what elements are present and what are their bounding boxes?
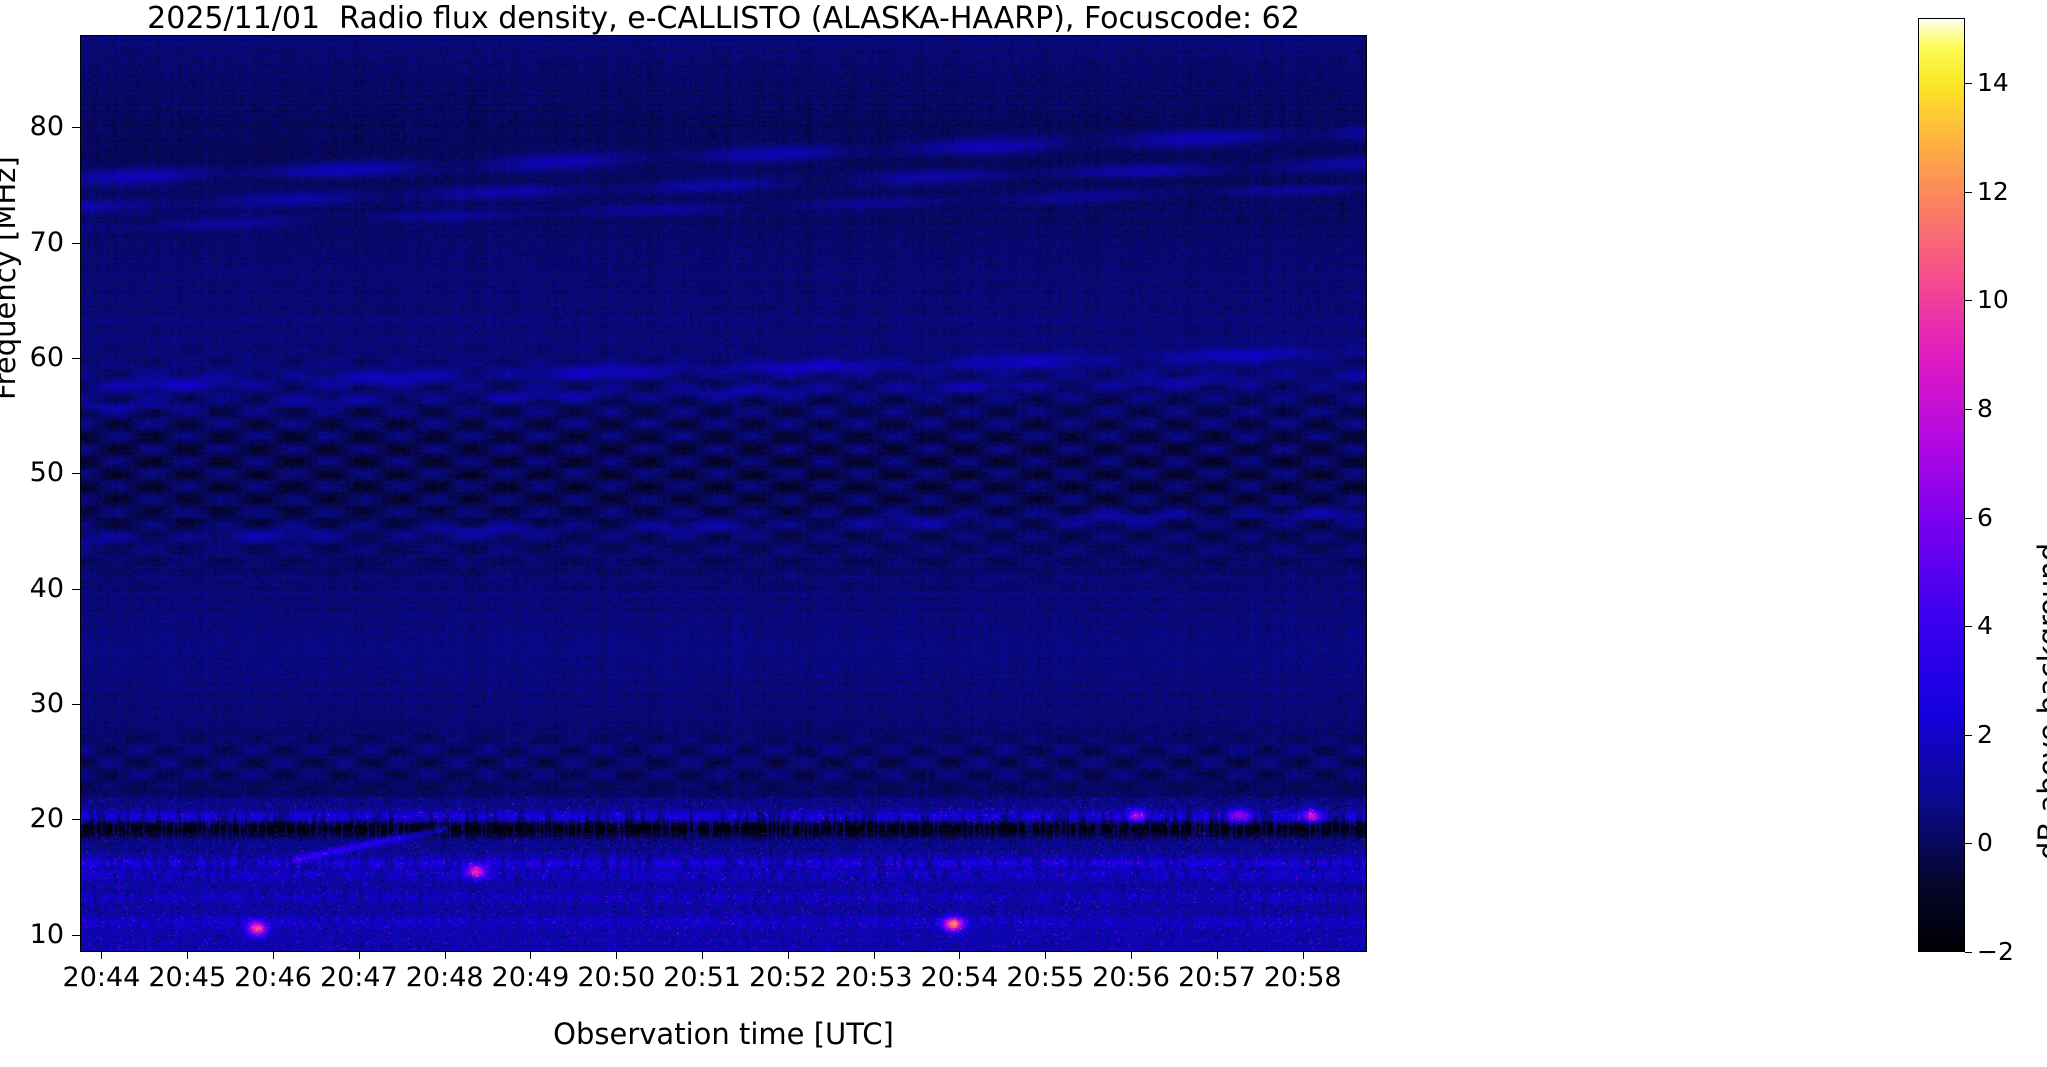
x-tick-label: 20:49 — [470, 964, 590, 991]
colorbar-tick-label: 12 — [1977, 179, 2009, 204]
x-tick-mark — [959, 952, 960, 959]
spectrogram-plot-area — [80, 35, 1367, 952]
x-tick-label: 20:55 — [985, 964, 1105, 991]
y-tick-mark — [72, 127, 80, 128]
colorbar-tick-mark — [1965, 952, 1972, 953]
x-tick-label: 20:53 — [814, 964, 934, 991]
x-tick-mark — [273, 952, 274, 959]
x-tick-label: 20:44 — [41, 964, 161, 991]
x-tick-mark — [1131, 952, 1132, 959]
x-tick-mark — [874, 952, 875, 959]
colorbar-tick-label: 10 — [1977, 287, 2009, 312]
y-tick-label: 10 — [0, 921, 64, 948]
x-tick-label: 20:50 — [556, 964, 676, 991]
y-tick-label: 40 — [0, 575, 64, 602]
x-axis-label: Observation time [UTC] — [80, 1017, 1367, 1051]
y-axis-label: Frequency [MHz] — [0, 156, 22, 400]
x-tick-mark — [359, 952, 360, 959]
x-tick-label: 20:48 — [385, 964, 505, 991]
y-tick-label: 80 — [0, 113, 64, 140]
x-tick-mark — [445, 952, 446, 959]
colorbar-tick-mark — [1965, 300, 1972, 301]
y-tick-label: 50 — [0, 459, 64, 486]
x-tick-label: 20:45 — [127, 964, 247, 991]
spectrogram-image — [81, 36, 1367, 952]
x-tick-mark — [1303, 952, 1304, 959]
y-tick-mark — [72, 589, 80, 590]
y-tick-mark — [72, 473, 80, 474]
spectrogram-figure: 2025/11/01 Radio flux density, e-CALLIST… — [0, 0, 2047, 1067]
colorbar-tick-mark — [1965, 843, 1972, 844]
x-tick-mark — [187, 952, 188, 959]
x-tick-label: 20:56 — [1071, 964, 1191, 991]
x-tick-label: 20:52 — [728, 964, 848, 991]
y-tick-mark — [72, 243, 80, 244]
colorbar-tick-label: −2 — [1977, 939, 2014, 964]
colorbar-tick-mark — [1965, 735, 1972, 736]
x-tick-label: 20:54 — [899, 964, 1019, 991]
x-tick-label: 20:46 — [213, 964, 333, 991]
colorbar-tick-label: 4 — [1977, 613, 1993, 638]
x-tick-mark — [616, 952, 617, 959]
y-tick-label: 20 — [0, 805, 64, 832]
colorbar-tick-mark — [1965, 626, 1972, 627]
x-tick-mark — [1217, 952, 1218, 959]
colorbar-tick-label: 8 — [1977, 396, 1993, 421]
y-tick-label: 30 — [0, 690, 64, 717]
y-tick-mark — [72, 358, 80, 359]
colorbar-tick-mark — [1965, 83, 1972, 84]
colorbar-tick-label: 2 — [1977, 722, 1993, 747]
x-tick-mark — [702, 952, 703, 959]
colorbar-tick-label: 0 — [1977, 830, 1993, 855]
x-tick-mark — [1045, 952, 1046, 959]
colorbar-gradient — [1919, 19, 1964, 951]
colorbar-tick-mark — [1965, 192, 1972, 193]
x-tick-label: 20:51 — [642, 964, 762, 991]
x-tick-mark — [101, 952, 102, 959]
colorbar-tick-mark — [1965, 409, 1972, 410]
colorbar-label: dB above background — [2032, 543, 2047, 860]
x-tick-label: 20:57 — [1157, 964, 1277, 991]
colorbar-tick-label: 14 — [1977, 70, 2009, 95]
y-tick-mark — [72, 819, 80, 820]
colorbar — [1918, 18, 1965, 952]
x-tick-mark — [530, 952, 531, 959]
x-tick-mark — [788, 952, 789, 959]
x-tick-label: 20:58 — [1243, 964, 1363, 991]
x-tick-label: 20:47 — [299, 964, 419, 991]
y-tick-mark — [72, 704, 80, 705]
colorbar-tick-label: 6 — [1977, 505, 1993, 530]
colorbar-tick-mark — [1965, 518, 1972, 519]
y-tick-mark — [72, 935, 80, 936]
figure-title: 2025/11/01 Radio flux density, e-CALLIST… — [80, 3, 1367, 35]
